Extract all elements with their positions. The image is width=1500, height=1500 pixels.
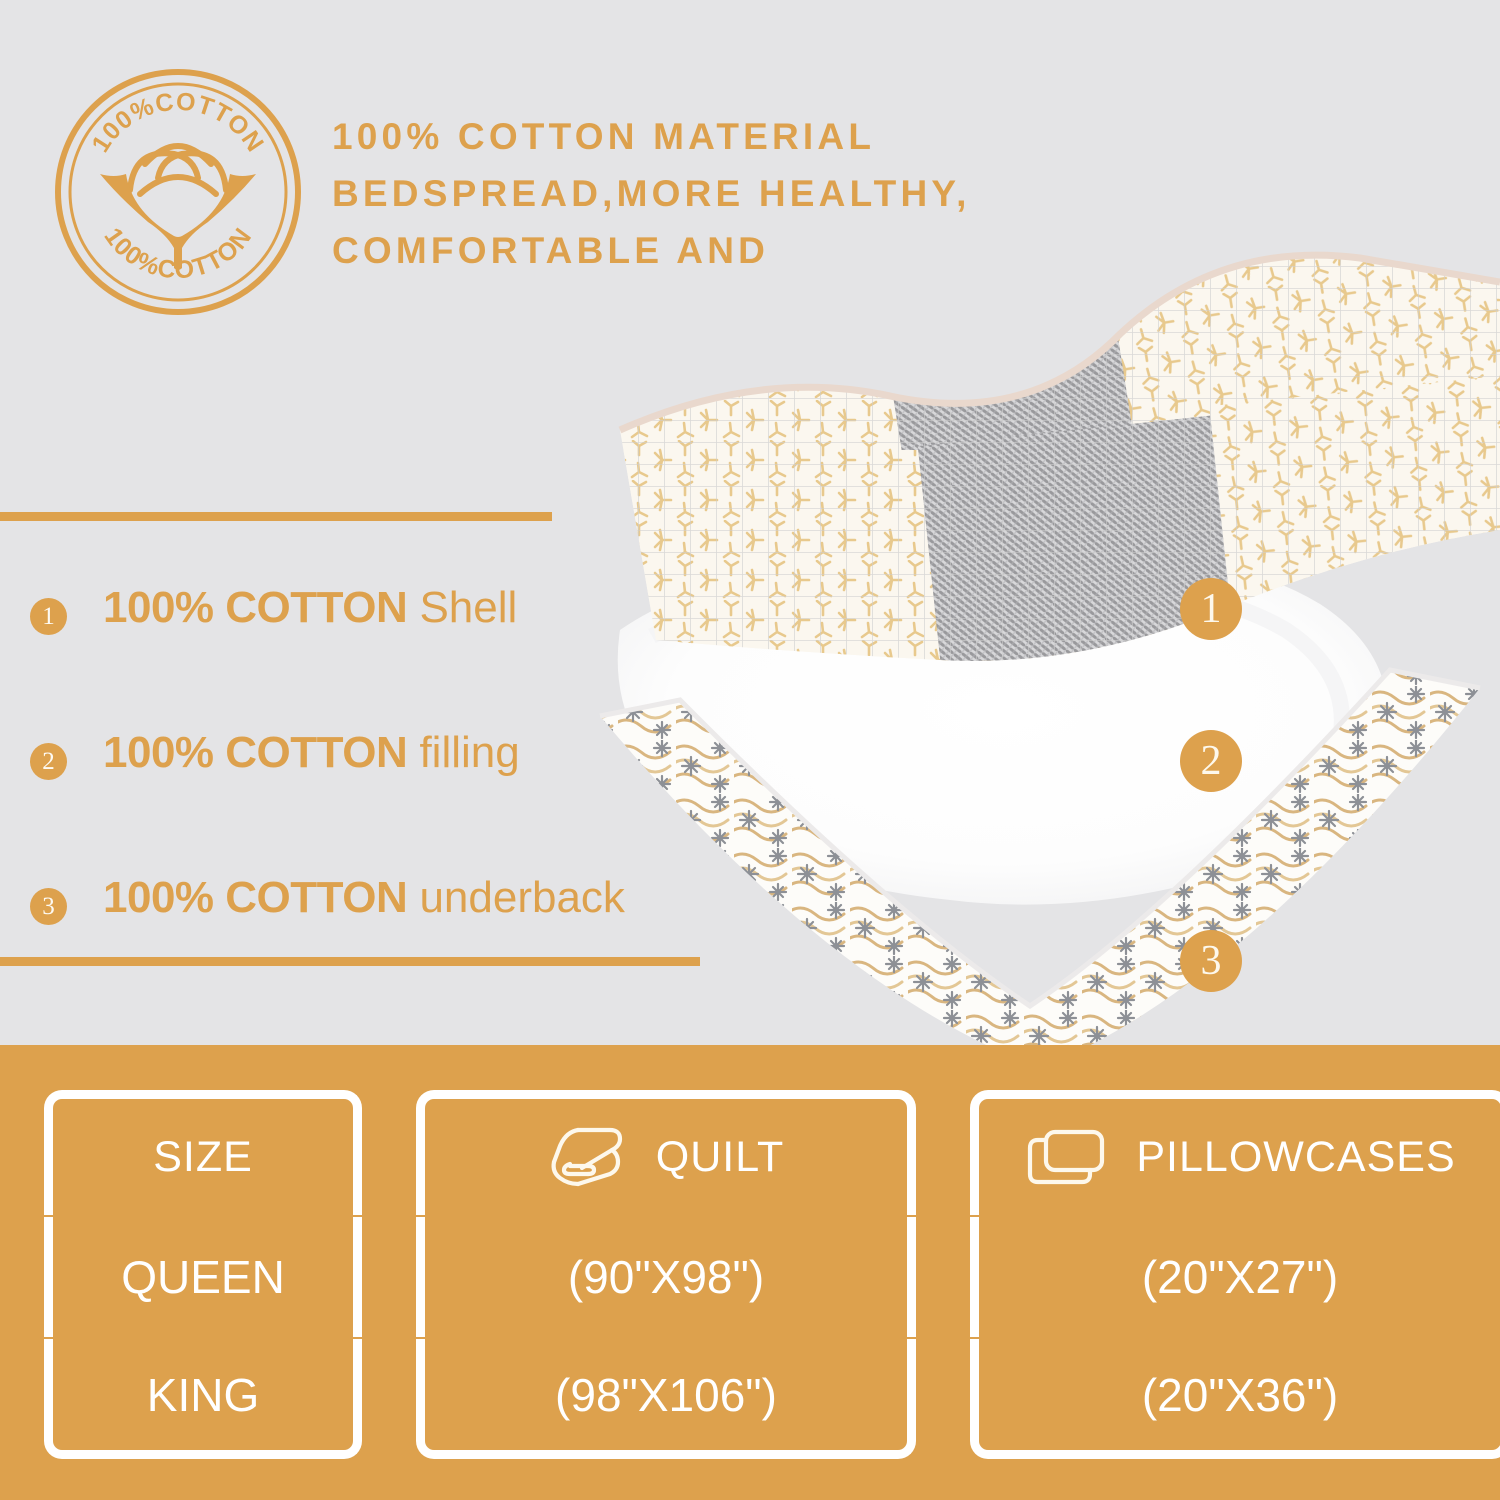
table-header-label: PILLOWCASES bbox=[1136, 1133, 1455, 1182]
table-header-quilt: QUILT bbox=[416, 1090, 916, 1215]
table-row: (90"X98") bbox=[416, 1217, 916, 1337]
feature-light: Shell bbox=[419, 583, 517, 632]
quilt-top-shell-layer bbox=[560, 200, 1500, 700]
cell-pillowcase-size: (20"X36") bbox=[1142, 1368, 1338, 1422]
layer-badge-3: 3 bbox=[1180, 930, 1242, 992]
product-layers-illustration bbox=[560, 200, 1500, 1045]
table-row: (20"X27") bbox=[970, 1217, 1500, 1337]
size-table-section: SIZE QUILT bbox=[0, 1045, 1500, 1500]
table-header-pillowcases: PILLOWCASES bbox=[970, 1090, 1500, 1215]
cotton-boll-seal-icon: 100%COTTON 100%COTTON bbox=[48, 62, 308, 322]
feature-label: 100% COTTON underback bbox=[103, 873, 625, 923]
table-header-size: SIZE bbox=[44, 1090, 362, 1215]
size-table: SIZE QUILT bbox=[44, 1090, 1456, 1460]
table-row: (20"X36") bbox=[970, 1339, 1500, 1459]
cell-quilt-size: (98"X106") bbox=[555, 1368, 777, 1422]
table-row: QUEEN bbox=[44, 1217, 362, 1337]
feature-number-badge: 2 bbox=[30, 743, 67, 780]
cell-size: QUEEN bbox=[121, 1250, 285, 1304]
feature-strong: 100% COTTON bbox=[103, 728, 407, 777]
table-row: (98"X106") bbox=[416, 1339, 916, 1459]
infographic-stage: 100%COTTON 100%COTTON 100% COTTON MATERI… bbox=[0, 0, 1500, 1500]
table-row: KING bbox=[44, 1339, 362, 1459]
divider-top bbox=[0, 512, 552, 521]
feature-number-badge: 3 bbox=[30, 888, 67, 925]
feature-strong: 100% COTTON bbox=[103, 583, 407, 632]
pillowcases-icon bbox=[1024, 1126, 1110, 1188]
feature-strong: 100% COTTON bbox=[103, 873, 407, 922]
cell-pillowcase-size: (20"X27") bbox=[1142, 1250, 1338, 1304]
cell-size: KING bbox=[147, 1368, 259, 1422]
layer-badge-1: 1 bbox=[1180, 578, 1242, 640]
feature-number-badge: 1 bbox=[30, 598, 67, 635]
folded-quilt-icon bbox=[548, 1124, 630, 1190]
feature-label: 100% COTTON Shell bbox=[103, 583, 517, 633]
feature-light: filling bbox=[419, 728, 519, 777]
feature-label: 100% COTTON filling bbox=[103, 728, 520, 778]
layer-badge-2: 2 bbox=[1180, 730, 1242, 792]
table-header-label: QUILT bbox=[656, 1133, 784, 1182]
table-header-label: SIZE bbox=[153, 1133, 253, 1182]
cell-quilt-size: (90"X98") bbox=[568, 1250, 764, 1304]
top-section: 100%COTTON 100%COTTON 100% COTTON MATERI… bbox=[0, 0, 1500, 1045]
